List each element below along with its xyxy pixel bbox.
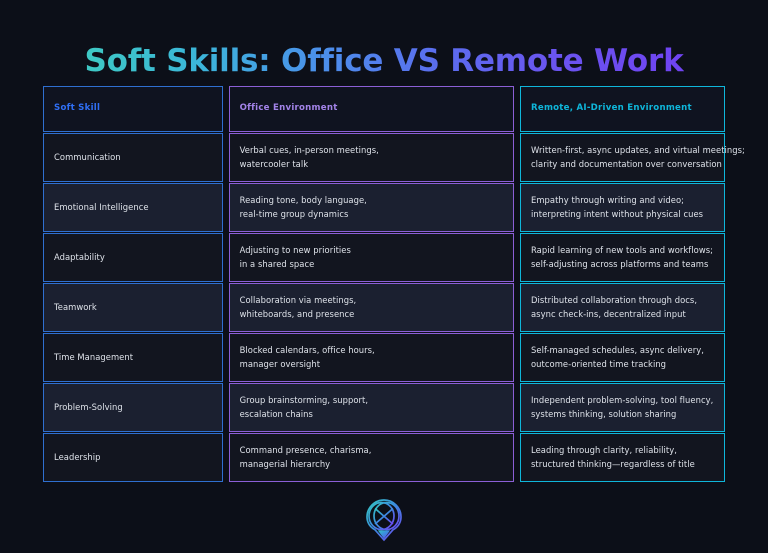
column-header-remote-environment: Remote, AI-Driven Environment	[520, 86, 725, 132]
cell-line: Leading through clarity, reliability,	[531, 444, 695, 457]
table-row: Command presence, charisma,managerial hi…	[229, 433, 514, 482]
column-soft-skill: Soft Skill Communication Emotional Intel…	[43, 86, 223, 482]
table-row: Distributed collaboration through docs,a…	[520, 283, 725, 332]
cell-line: managerial hierarchy	[240, 458, 372, 471]
table-row: Independent problem-solving, tool fluenc…	[520, 383, 725, 432]
table-row: Rapid learning of new tools and workflow…	[520, 233, 725, 282]
table-row: Self-managed schedules, async delivery,o…	[520, 333, 725, 382]
comparison-table: Soft Skill Communication Emotional Intel…	[43, 86, 725, 482]
cell-line: systems thinking, solution sharing	[531, 408, 713, 421]
cell-line: Group brainstorming, support,	[240, 394, 368, 407]
cell-line: Blocked calendars, office hours,	[240, 344, 375, 357]
cell-line: Independent problem-solving, tool fluenc…	[531, 394, 713, 407]
table-row: Reading tone, body language,real-time gr…	[229, 183, 514, 232]
cell-line: Collaboration via meetings,	[240, 294, 357, 307]
table-row: Blocked calendars, office hours,manager …	[229, 333, 514, 382]
cell-line: real-time group dynamics	[240, 208, 367, 221]
cell-line: Written-first, async updates, and virtua…	[531, 144, 745, 157]
table-row: Adaptability	[43, 233, 223, 282]
cell-line: Rapid learning of new tools and workflow…	[531, 244, 713, 257]
cell-line: Adjusting to new priorities	[240, 244, 351, 257]
cell-line: escalation chains	[240, 408, 368, 421]
location-pin-x-logo	[363, 497, 405, 543]
column-office-environment: Office Environment Verbal cues, in-perso…	[229, 86, 514, 482]
cell-line: Self-managed schedules, async delivery,	[531, 344, 704, 357]
slide-canvas: Soft Skills: Office VS Remote Work Soft …	[0, 0, 768, 553]
table-row: Collaboration via meetings,whiteboards, …	[229, 283, 514, 332]
cell-line: self-adjusting across platforms and team…	[531, 258, 713, 271]
cell-line: Verbal cues, in-person meetings,	[240, 144, 379, 157]
cell-line: Empathy through writing and video;	[531, 194, 703, 207]
table-row: Teamwork	[43, 283, 223, 332]
cell-line: in a shared space	[240, 258, 351, 271]
table-row: Group brainstorming, support,escalation …	[229, 383, 514, 432]
cell-line: Distributed collaboration through docs,	[531, 294, 697, 307]
cell-line: clarity and documentation over conversat…	[531, 158, 745, 171]
page-title: Soft Skills: Office VS Remote Work	[84, 43, 683, 80]
column-header-office-environment: Office Environment	[229, 86, 514, 132]
table-row: Empathy through writing and video;interp…	[520, 183, 725, 232]
cell-line: outcome-oriented time tracking	[531, 358, 704, 371]
cell-line: whiteboards, and presence	[240, 308, 357, 321]
table-row: Leading through clarity, reliability,str…	[520, 433, 725, 482]
table-row: Problem-Solving	[43, 383, 223, 432]
cell-line: Reading tone, body language,	[240, 194, 367, 207]
table-row: Written-first, async updates, and virtua…	[520, 133, 725, 182]
table-row: Emotional Intelligence	[43, 183, 223, 232]
cell-line: manager oversight	[240, 358, 375, 371]
cell-line: watercooler talk	[240, 158, 379, 171]
table-row: Verbal cues, in-person meetings,watercoo…	[229, 133, 514, 182]
cell-line: structured thinking—regardless of title	[531, 458, 695, 471]
table-row: Communication	[43, 133, 223, 182]
cell-line: Command presence, charisma,	[240, 444, 372, 457]
cell-line: async check-ins, decentralized input	[531, 308, 697, 321]
table-row: Leadership	[43, 433, 223, 482]
footer-logo-container	[0, 497, 768, 543]
cell-line: interpreting intent without physical cue…	[531, 208, 703, 221]
table-row: Time Management	[43, 333, 223, 382]
column-header-soft-skill: Soft Skill	[43, 86, 223, 132]
column-remote-ai-driven-environment: Remote, AI-Driven Environment Written-fi…	[520, 86, 725, 482]
table-row: Adjusting to new prioritiesin a shared s…	[229, 233, 514, 282]
